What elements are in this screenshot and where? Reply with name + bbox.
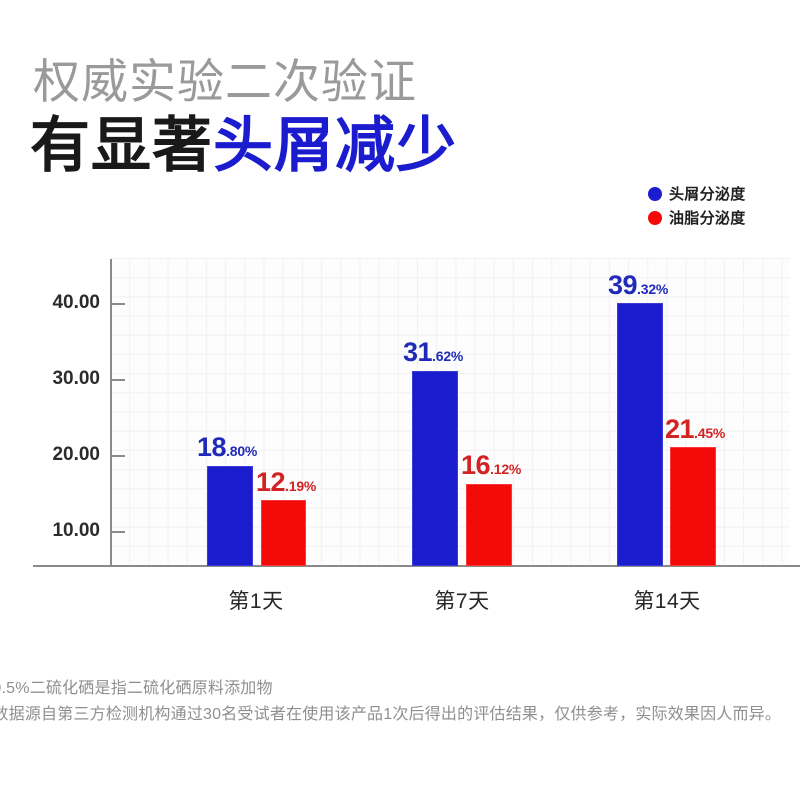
bar-value-dec: .80%	[226, 443, 257, 459]
footnote-1: *0.5%二硫化硒是指二硫化硒原料添加物	[0, 676, 810, 702]
bar-label-oil-day7: 16.12%	[461, 452, 521, 479]
bar-value-dec: .45%	[694, 425, 725, 441]
chart-page: 权威实验二次验证 有显著头屑减少 头屑分泌度 油脂分泌度 40.00 30.00…	[0, 0, 810, 801]
bar-value-int: 18	[197, 432, 226, 462]
y-axis-label-20: 20.00	[22, 444, 100, 466]
bar-oil-day7[interactable]	[466, 484, 512, 566]
y-axis-tick-20	[112, 455, 125, 457]
bar-oil-day1[interactable]	[261, 500, 306, 566]
bar-value-int: 39	[608, 270, 637, 300]
bar-label-oil-day1: 12.19%	[256, 469, 316, 496]
bar-label-oil-day14: 21.45%	[665, 416, 725, 443]
bar-label-dandruff-day7: 31.62%	[403, 339, 463, 366]
bar-dandruff-day7[interactable]	[412, 371, 458, 566]
bar-value-int: 21	[665, 414, 694, 444]
bar-label-dandruff-day1: 18.80%	[197, 434, 257, 461]
y-axis-tick-30	[112, 379, 125, 381]
y-axis-line	[110, 259, 112, 567]
bar-label-dandruff-day14: 39.32%	[608, 272, 668, 299]
bar-dandruff-day14[interactable]	[617, 303, 663, 566]
y-axis-tick-10	[112, 531, 125, 533]
bar-value-dec: .62%	[432, 348, 463, 364]
bar-value-int: 31	[403, 337, 432, 367]
bar-value-int: 12	[256, 467, 285, 497]
x-axis-label-day14: 第14天	[597, 585, 737, 615]
bar-oil-day14[interactable]	[670, 447, 716, 566]
y-axis-label-10: 10.00	[22, 520, 100, 542]
bar-chart: 40.00 30.00 20.00 10.00 18.80% 12.19% 第1…	[0, 0, 810, 640]
bar-value-dec: .19%	[285, 478, 316, 494]
bar-dandruff-day1[interactable]	[207, 466, 253, 566]
bar-value-int: 16	[461, 450, 490, 480]
y-axis-label-30: 30.00	[22, 368, 100, 390]
y-axis-label-40: 40.00	[22, 292, 100, 314]
bar-value-dec: .12%	[490, 461, 521, 477]
footnote-2: *数据源自第三方检测机构通过30名受试者在使用该产品1次后得出的评估结果，仅供参…	[0, 702, 810, 728]
x-axis-label-day1: 第1天	[186, 585, 326, 615]
x-axis-label-day7: 第7天	[392, 585, 532, 615]
bar-value-dec: .32%	[637, 281, 668, 297]
footnotes: *0.5%二硫化硒是指二硫化硒原料添加物 *数据源自第三方检测机构通过30名受试…	[0, 676, 810, 728]
y-axis-tick-40	[112, 303, 125, 305]
